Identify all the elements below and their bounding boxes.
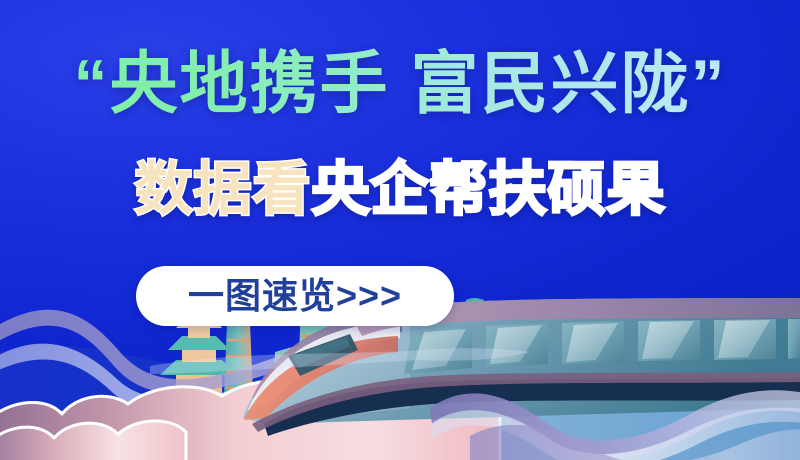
view-infographic-button[interactable]: 一图速览>>> — [136, 266, 454, 326]
subtitle-block: 数据看央企帮扶硕果 — [0, 158, 800, 222]
page-title: “央地携手 富民兴陇” — [74, 48, 727, 121]
view-infographic-label: 一图速览>>> — [188, 278, 402, 314]
subtitle-rest: 央企帮扶硕果 — [312, 157, 666, 222]
promo-banner: “央地携手 富民兴陇” 数据看央企帮扶硕果 一图速览>>> — [0, 0, 800, 460]
title-block: “央地携手 富民兴陇” — [0, 48, 800, 121]
subtitle: 数据看央企帮扶硕果 — [134, 158, 665, 222]
subtitle-highlight: 数据看 — [134, 157, 311, 222]
